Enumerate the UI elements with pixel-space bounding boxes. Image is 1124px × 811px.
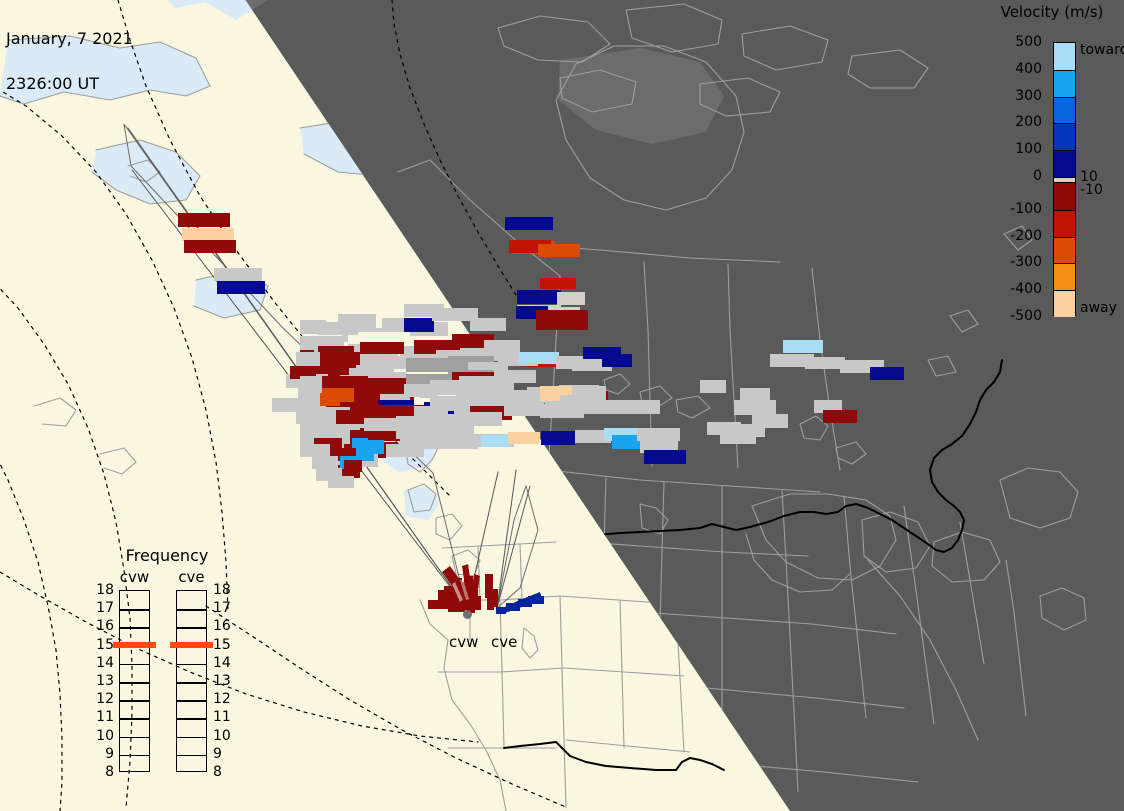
frequency-gridline [120,700,149,702]
frequency-marker-cve [170,642,213,648]
frequency-gridline [120,755,149,757]
colorbar-tick-0: 0 [1033,168,1042,184]
frequency-scale-label-right-8: 8 [213,764,235,780]
colorbar-gradient-box [1053,42,1076,316]
timestamp-block: January, 7 2021 2326:00 UT [6,1,133,121]
frequency-marker-cvw [113,642,156,648]
frequency-column-header-cve: cve [170,568,214,586]
colorbar-segment-toward-3 [1054,123,1075,150]
frequency-column-header-cvw: cvw [113,568,157,586]
colorbar-segment-toward-1 [1054,70,1075,97]
colorbar-label-away: away [1080,300,1117,316]
frequency-scale-label-right-15: 15 [213,637,235,653]
frequency-scale-label-left-15: 15 [92,637,114,653]
frequency-scale-label-right-18: 18 [213,582,235,598]
colorbar-divider [1054,70,1075,71]
frequency-gridline [120,737,149,739]
frequency-scale-label-left-14: 14 [92,655,114,671]
colorbar-divider [1054,97,1075,98]
radar-cell-group [178,213,904,488]
timestamp-date: January, 7 2021 [6,31,133,46]
frequency-scale-label-right-11: 11 [213,709,235,725]
colorbar-segment-away-3 [1054,263,1075,290]
colorbar-title: Velocity (m/s) [980,3,1124,21]
frequency-gridline [177,755,206,757]
frequency-gridline [177,664,206,666]
colorbar-label-lower-threshold: -10 [1080,182,1103,198]
station-label-cvw[interactable]: cvw [449,633,478,651]
colorbar-segment-away-0 [1054,183,1075,210]
frequency-gridline [177,700,206,702]
frequency-bar-cvw[interactable] [119,590,150,772]
frequency-gridline [177,609,206,611]
frequency-gridline [120,718,149,720]
colorbar-tick-100: 100 [1015,141,1042,157]
frequency-scale-label-right-16: 16 [213,618,235,634]
colorbar-segment-away-1 [1054,210,1075,237]
frequency-scale-label-right-14: 14 [213,655,235,671]
colorbar-tick-300: 300 [1015,88,1042,104]
frequency-scale-label-right-9: 9 [213,746,235,762]
colorbar-divider [1054,263,1075,264]
frequency-gridline [120,664,149,666]
frequency-bar-cve[interactable] [176,590,207,772]
colorbar-divider [1054,210,1075,211]
frequency-gridline [177,682,206,684]
colorbar-tick-neg200: -200 [1010,228,1042,244]
frequency-gridline [120,609,149,611]
frequency-gridline [177,718,206,720]
colorbar-segment-toward-0 [1054,43,1075,70]
colorbar-divider [1054,150,1075,151]
frequency-scale-label-right-13: 13 [213,673,235,689]
frequency-scale-label-right-17: 17 [213,600,235,616]
colorbar-divider [1054,290,1075,291]
colorbar-tick-neg100: -100 [1010,201,1042,217]
frequency-scale-label-left-8: 8 [92,764,114,780]
colorbar-segment-toward-2 [1054,97,1075,124]
frequency-scale-label-left-18: 18 [92,582,114,598]
frequency-scale-label-right-12: 12 [213,691,235,707]
frequency-legend: Frequency cvwcve181817171616151514141313… [92,546,242,794]
colorbar-tick-200: 200 [1015,114,1042,130]
frequency-gridline [120,627,149,629]
radar-map-screenshot: cvw cve January, 7 2021 2326:00 UT Veloc… [0,0,1124,811]
frequency-scale-label-left-16: 16 [92,618,114,634]
station-label-cve[interactable]: cve [491,633,517,651]
colorbar-tick-neg500: -500 [1010,308,1042,324]
frequency-scale-label-left-9: 9 [92,746,114,762]
colorbar-divider [1054,123,1075,124]
station-marker-cvw[interactable] [463,610,472,619]
frequency-gridline [120,682,149,684]
colorbar-label-toward: toward [1080,42,1124,58]
colorbar-tick-neg300: -300 [1010,254,1042,270]
frequency-gridline [177,627,206,629]
colorbar-tick-neg400: -400 [1010,281,1042,297]
frequency-title: Frequency [92,546,242,565]
frequency-scale-label-left-13: 13 [92,673,114,689]
colorbar-segment-away-2 [1054,237,1075,264]
frequency-scale-label-left-12: 12 [92,691,114,707]
frequency-scale-label-left-17: 17 [92,600,114,616]
frequency-scale-label-left-11: 11 [92,709,114,725]
frequency-gridline [177,737,206,739]
colorbar-segment-toward-4 [1054,150,1075,177]
colorbar-tick-500: 500 [1015,34,1042,50]
colorbar-divider [1054,237,1075,238]
colorbar-segment-away-4 [1054,290,1075,317]
radar-near-range-cells [428,564,544,614]
frequency-scale-label-left-10: 10 [92,728,114,744]
colorbar-tick-400: 400 [1015,61,1042,77]
velocity-colorbar: Velocity (m/s) 5004003002001000-100-200-… [975,0,1124,340]
frequency-scale-label-right-10: 10 [213,728,235,744]
timestamp-time: 2326:00 UT [6,76,133,91]
